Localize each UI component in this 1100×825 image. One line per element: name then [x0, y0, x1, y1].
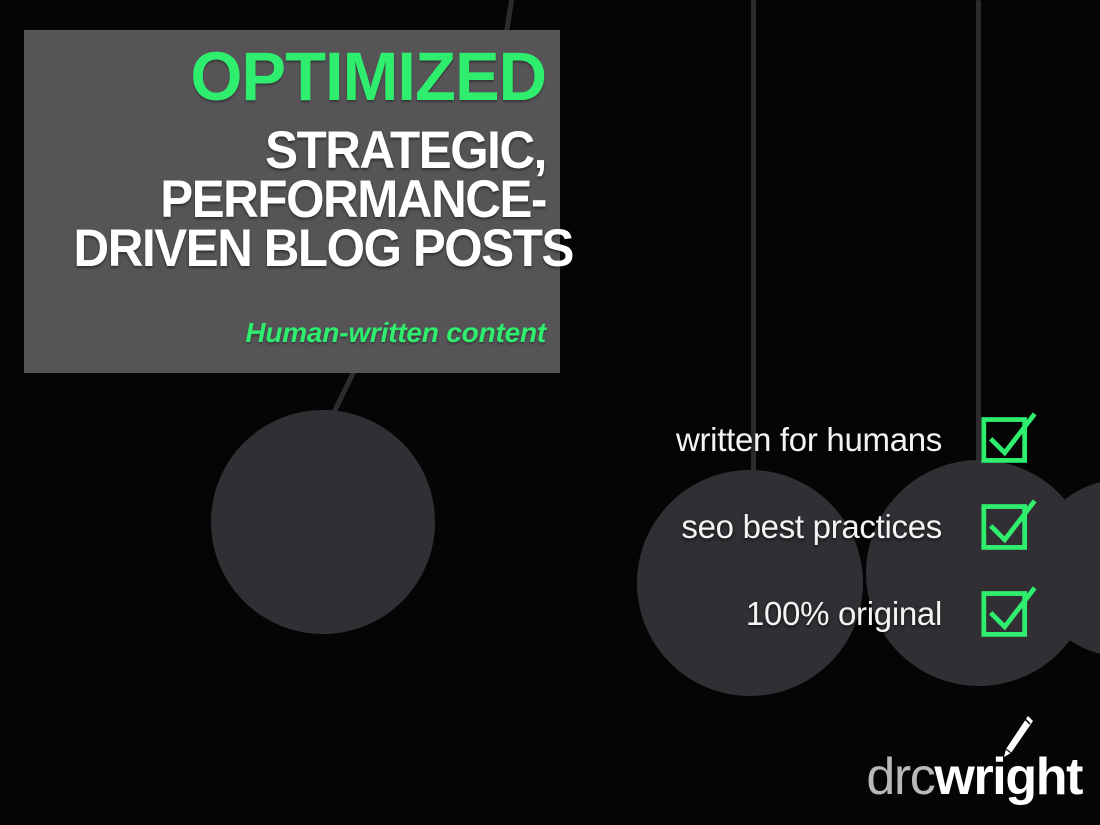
list-item[interactable]: 100% original — [617, 585, 1037, 642]
card-headline-line-2: PERFORMANCE- — [74, 175, 546, 224]
card-headline-line-3: DRIVEN BLOG POSTS — [74, 224, 546, 273]
card-kicker: OPTIMIZED — [53, 44, 546, 110]
card-headline: STRATEGIC, PERFORMANCE- DRIVEN BLOG POST… — [74, 126, 546, 274]
logo-primary-text: drc — [866, 751, 934, 803]
feature-checklist: written for humans seo best practices 10… — [617, 411, 1037, 642]
list-item[interactable]: written for humans — [617, 411, 1037, 468]
check-label: seo best practices — [681, 510, 942, 543]
brand-logo[interactable]: drcwright — [866, 733, 1082, 803]
check-label: written for humans — [676, 423, 942, 456]
card-headline-line-1: STRATEGIC, — [74, 126, 546, 175]
pen-nib-icon — [995, 713, 1035, 759]
slide-canvas: OPTIMIZED STRATEGIC, PERFORMANCE- DRIVEN… — [0, 0, 1100, 825]
thread-center — [751, 0, 756, 482]
checkbox-checked-icon[interactable] — [980, 498, 1037, 555]
check-label: 100% original — [746, 597, 942, 630]
orb-edge — [1032, 480, 1100, 656]
orb-left — [211, 410, 435, 634]
list-item[interactable]: seo best practices — [617, 498, 1037, 555]
checkbox-checked-icon[interactable] — [980, 411, 1037, 468]
checkbox-checked-icon[interactable] — [980, 585, 1037, 642]
headline-card: OPTIMIZED STRATEGIC, PERFORMANCE- DRIVEN… — [24, 30, 560, 373]
thread-right — [976, 0, 981, 474]
logo-wordmark: drcwright — [866, 751, 1082, 803]
card-subtitle: Human-written content — [38, 319, 546, 347]
